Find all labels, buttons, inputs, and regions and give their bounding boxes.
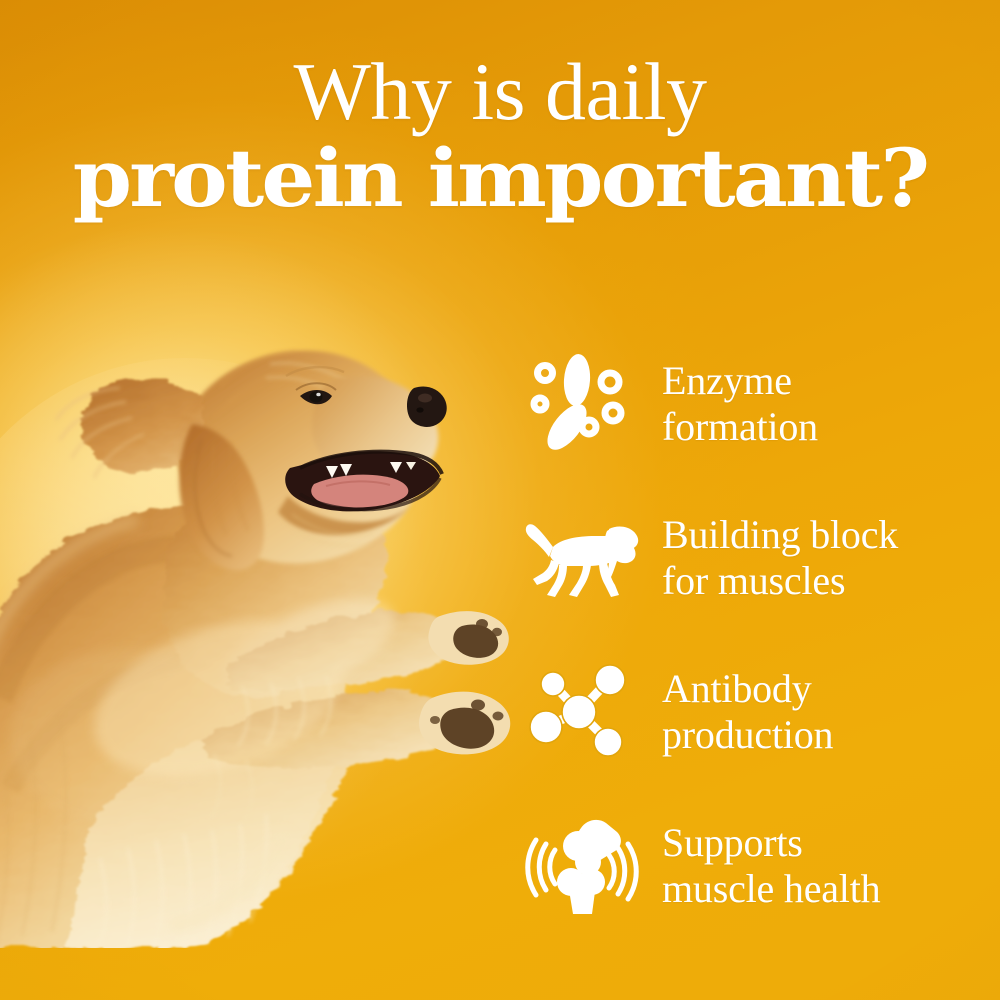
benefit-item-muscle-health: Supports muscle health xyxy=(528,814,990,918)
enzyme-icon xyxy=(528,352,636,456)
benefit-item-building-block: Building block for muscles xyxy=(528,506,990,610)
benefit-item-antibody-production: Antibody production xyxy=(528,660,990,764)
benefit-label-building-block: Building block for muscles xyxy=(662,512,898,605)
antibody-molecule-icon xyxy=(528,660,636,764)
benefit-item-enzyme-formation: Enzyme formation xyxy=(528,352,990,456)
benefits-list: Enzyme formation xyxy=(528,352,990,918)
benefit-label-antibody-production: Antibody production xyxy=(662,666,833,759)
benefit-label-enzyme-formation: Enzyme formation xyxy=(662,358,818,451)
benefit-label-muscle-health: Supports muscle health xyxy=(662,820,880,913)
dog-walking-icon xyxy=(528,506,636,610)
protein-benefits-infographic: Why is daily protein important? xyxy=(0,0,1000,1000)
golden-retriever-leaping-image xyxy=(0,268,530,948)
bone-joint-icon xyxy=(528,814,636,918)
